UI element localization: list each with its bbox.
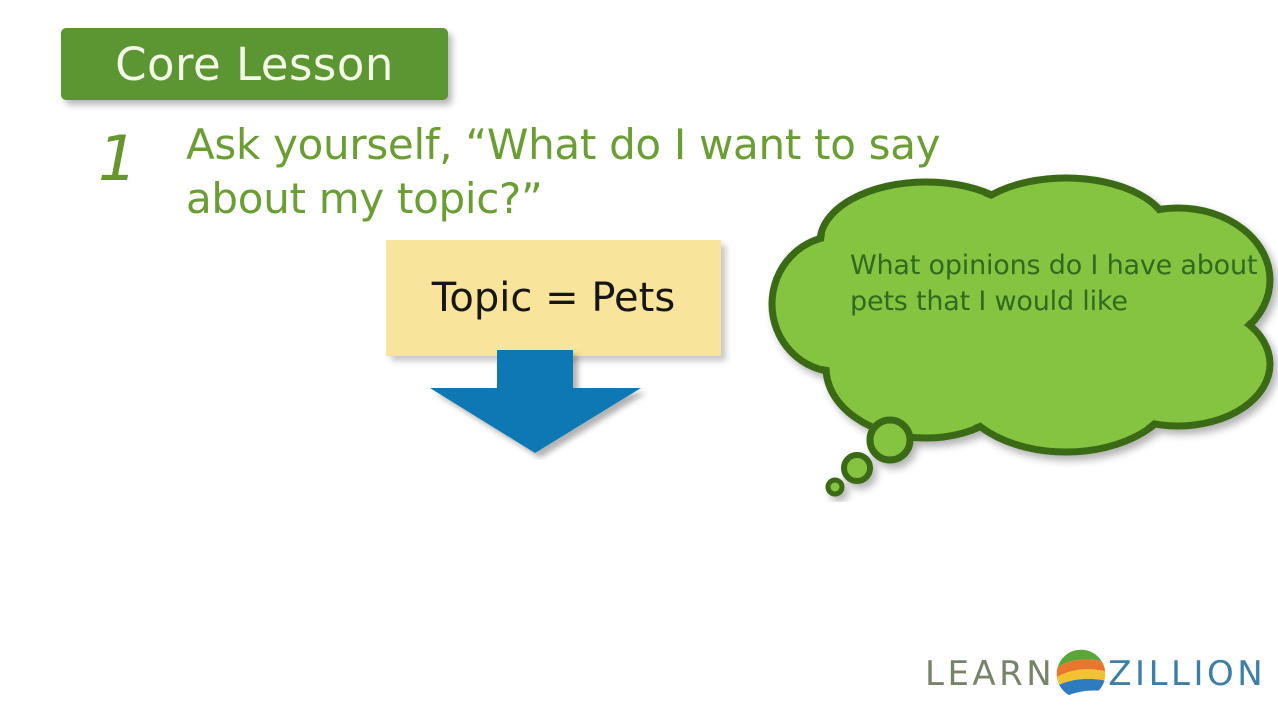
step-number: 1 [98,128,158,208]
thought-bubble-shape [766,172,1278,502]
topic-box: Topic = Pets [386,240,721,356]
thought-bubble-tail-large [870,420,910,460]
topic-box-text: Topic = Pets [386,240,721,356]
core-lesson-banner-label: Core Lesson [61,28,448,100]
thought-bubble-tail-medium [844,455,870,481]
logo-word-learn: LEARN [925,657,1055,691]
down-arrow [428,350,678,460]
globe-icon [1055,648,1107,700]
thought-bubble-text: What opinions do I have about pets that … [850,248,1262,319]
thought-bubble-tail-small [828,480,842,494]
logo-word-zillion: ZILLION [1108,657,1266,691]
step-heading-line-1: Ask yourself, “What do I want to say [186,118,1136,172]
core-lesson-banner: Core Lesson [61,28,448,100]
thought-bubble: What opinions do I have about pets that … [766,172,1278,502]
slide-canvas: Core Lesson 1 Ask yourself, “What do I w… [0,0,1278,720]
down-arrow-icon [428,350,678,460]
learnzillion-logo: LEARN ZILLION [925,646,1215,702]
